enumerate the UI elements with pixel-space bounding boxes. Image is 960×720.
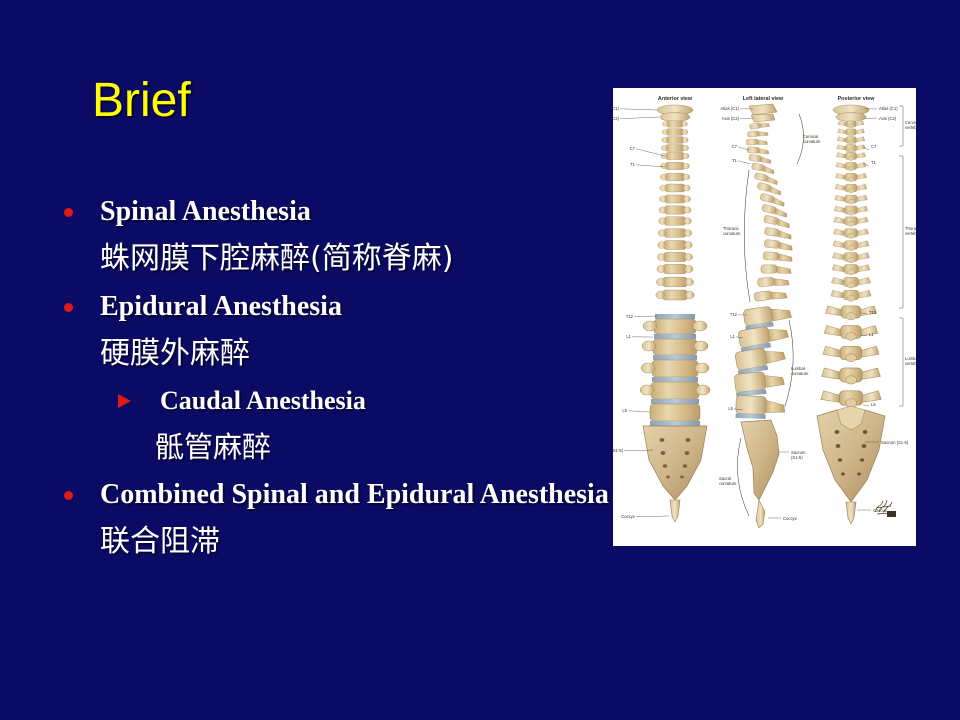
list-item-label: Spinal Anesthesia <box>100 196 311 227</box>
list-item: Caudal Anesthesia <box>55 380 615 422</box>
svg-text:Axis (C2): Axis (C2) <box>613 116 620 121</box>
vertebral-column-figure: Anterior view Left lateral view Posterio… <box>613 88 916 546</box>
list-item-label: 硬膜外麻醉 <box>100 336 250 371</box>
list-item-label: 蛛网膜下腔麻醉(简称脊麻) <box>100 241 453 276</box>
svg-text:C7: C7 <box>871 144 877 149</box>
list-item: Combined Spinal and Epidural Anesthesia <box>55 473 615 516</box>
svg-text:curvature: curvature <box>723 231 741 236</box>
list-item-label: 联合阻滞 <box>100 524 220 559</box>
svg-text:L1: L1 <box>730 334 735 339</box>
svg-text:T1: T1 <box>732 158 738 163</box>
list-item: 骶管麻醉 <box>55 422 615 473</box>
list-item-label: 骶管麻醉 <box>155 430 271 464</box>
list-item: Spinal Anesthesia <box>55 190 615 233</box>
svg-text:Anterior view: Anterior view <box>658 96 693 102</box>
svg-text:Axis (C2): Axis (C2) <box>879 116 897 121</box>
svg-text:T1: T1 <box>871 160 877 165</box>
svg-text:Sacrum (S1-5): Sacrum (S1-5) <box>881 440 909 445</box>
svg-text:Axis (C2): Axis (C2) <box>722 116 740 121</box>
svg-text:Sacrum (S1-5): Sacrum (S1-5) <box>613 448 624 453</box>
bullet-dot-icon <box>64 303 73 312</box>
svg-text:vertebrae: vertebrae <box>905 231 916 236</box>
svg-text:L5: L5 <box>728 406 733 411</box>
svg-text:L1: L1 <box>626 334 631 339</box>
svg-text:curvature: curvature <box>803 139 821 144</box>
svg-text:Coccyx: Coccyx <box>783 516 798 521</box>
list-item-label: Caudal Anesthesia <box>160 386 366 415</box>
svg-text:T12: T12 <box>626 314 634 319</box>
svg-text:(S1-5): (S1-5) <box>791 455 803 460</box>
svg-text:Coccyx: Coccyx <box>621 514 636 519</box>
page-title: Brief <box>92 76 191 126</box>
bullet-arrow-icon <box>118 394 131 408</box>
svg-text:C7: C7 <box>732 144 738 149</box>
list-item-label: Combined Spinal and Epidural Anesthesia <box>100 479 609 510</box>
svg-text:C7: C7 <box>630 146 636 151</box>
svg-text:Posterior view: Posterior view <box>838 96 876 102</box>
bullet-dot-icon <box>64 491 73 500</box>
svg-text:Atlas (C1): Atlas (C1) <box>879 106 898 111</box>
svg-text:Atlas (C1): Atlas (C1) <box>613 106 620 111</box>
svg-text:Atlas (C1): Atlas (C1) <box>720 106 739 111</box>
bullet-dot-icon <box>64 208 73 217</box>
svg-text:L5: L5 <box>622 408 627 413</box>
svg-text:T1: T1 <box>630 162 636 167</box>
slide-canvas: Brief Spinal Anesthesia 蛛网膜下腔麻醉(简称脊麻) Ep… <box>0 0 960 720</box>
svg-text:vertebrae: vertebrae <box>905 361 916 366</box>
list-item: 联合阻滞 <box>55 516 615 568</box>
list-item: 硬膜外麻醉 <box>55 328 615 380</box>
list-item: 蛛网膜下腔麻醉(简称脊麻) <box>55 233 615 285</box>
svg-text:T12: T12 <box>869 310 877 315</box>
svg-text:Left lateral view: Left lateral view <box>743 96 784 102</box>
svg-text:vertebrae: vertebrae <box>905 125 916 130</box>
list-item-label: Epidural Anesthesia <box>100 291 342 322</box>
svg-text:L5: L5 <box>871 402 876 407</box>
svg-text:curvature: curvature <box>719 481 737 486</box>
bullet-list: Spinal Anesthesia 蛛网膜下腔麻醉(简称脊麻) Epidural… <box>55 190 615 568</box>
list-item: Epidural Anesthesia <box>55 285 615 328</box>
svg-text:curvature: curvature <box>791 371 809 376</box>
svg-text:L1: L1 <box>869 332 874 337</box>
svg-text:T12: T12 <box>730 312 738 317</box>
